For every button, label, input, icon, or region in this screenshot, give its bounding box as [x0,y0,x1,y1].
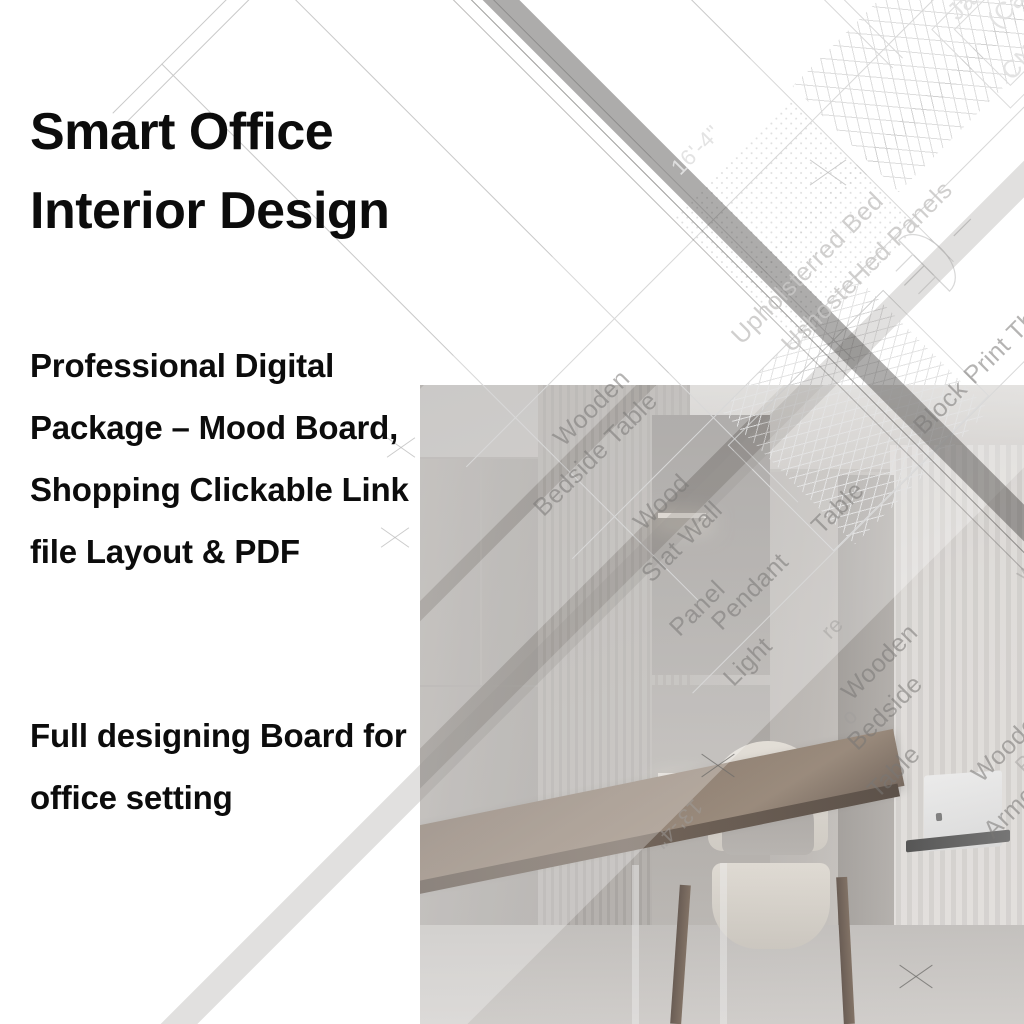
label-upholsterred-bed: Upholsterred Bed [726,187,890,351]
photo-acrylic-leg-1 [632,865,639,1024]
subhead-line-2: Package – Mood Board, [30,397,409,459]
dimension-width-label: 16'-4" [666,120,726,180]
hatch-swatch-dots [671,99,918,346]
subtitle-block: Professional Digital Package – Mood Boar… [30,335,409,583]
footline-line-1: Full designing Board for [30,705,407,767]
label-ushostehed-panels: UshosteHed Panels [776,176,959,359]
plan-rule [748,0,1024,29]
plan-rule [738,0,1024,39]
headline-line-1: Smart Office [30,93,389,172]
label-corner-cnc: CN [996,40,1024,87]
photo-chair-seat [712,863,830,949]
poster-canvas: 16'-4" 13'-4" Upholsterred Bed UshosteHe… [0,0,1024,1024]
photo-strip-light-1 [658,513,706,518]
hatch-swatch-stone [793,0,1024,192]
footer-text-block: Full designing Board for office setting [30,705,407,828]
label-corner-carved: (Car [982,0,1024,35]
photo-acrylic-leg-2 [720,863,727,1024]
plan-table-outline [931,0,1024,109]
plan-cross-symbol [806,150,850,194]
headline-line-2: Interior Design [30,172,389,251]
plan-table-inner [954,0,1024,86]
subhead-line-4: file Layout & PDF [30,521,409,583]
footline-line-2: office setting [30,767,407,829]
photo-niche-upper [652,415,770,675]
subhead-line-1: Professional Digital [30,335,409,397]
subhead-line-3: Shopping Clickable Link [30,459,409,521]
photo-laptop-camera [936,813,943,821]
photo-column [838,475,894,925]
page-title: Smart Office Interior Design [30,93,389,251]
label-corner-jali: Jal [942,0,986,27]
pendant-light-icon [855,172,1018,335]
plan-rule [706,0,1024,57]
text-column: Smart Office Interior Design Professiona… [30,0,590,1024]
